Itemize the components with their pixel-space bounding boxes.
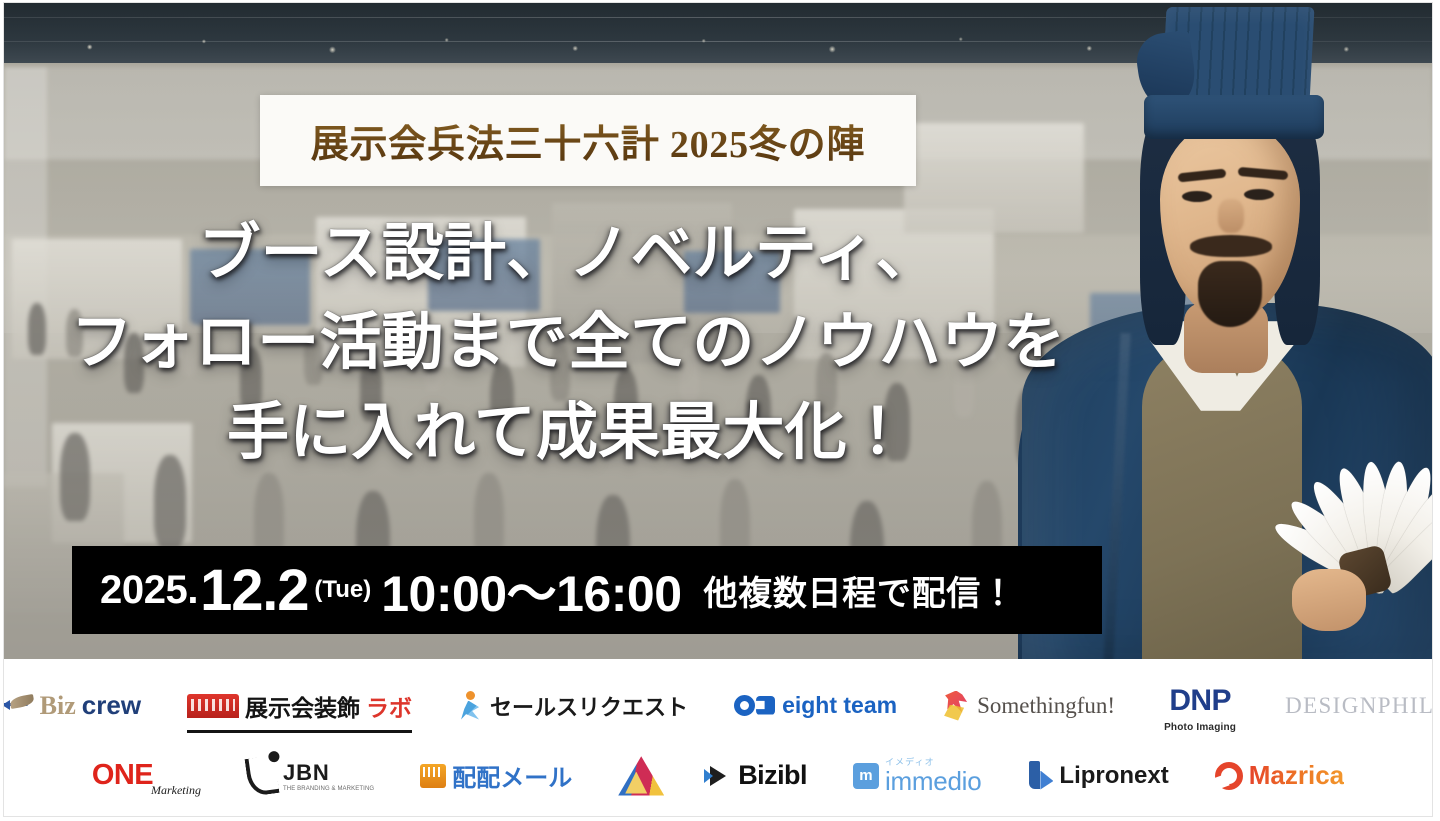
logo-bizcrew-part2: crew — [82, 690, 141, 721]
hero-section: 展示会兵法三十六計 2025冬の陣 ブース設計、ノベルティ、 フォロー活動まで全… — [4, 3, 1432, 659]
logo-triangle-mark[interactable] — [618, 754, 664, 798]
logo-labo-underline — [187, 730, 412, 733]
red-booth-icon — [187, 694, 239, 718]
date-weekday: (Tue) — [314, 576, 371, 604]
lipro-mark-icon — [1027, 761, 1053, 791]
logo-eight-team-label: eight team — [782, 692, 897, 719]
logo-dnp[interactable]: DNP Photo Imaging — [1161, 684, 1239, 728]
logo-eight-team[interactable]: eight team — [734, 684, 897, 728]
orange-mail-icon — [420, 764, 446, 788]
logo-one-marketing[interactable]: ONE Marketing — [92, 754, 201, 798]
logo-somethingfun-label: Somethingfun! — [977, 693, 1115, 719]
title-plaque: 展示会兵法三十六計 2025冬の陣 — [260, 95, 916, 186]
date-year: 2025. — [100, 568, 198, 613]
date-day: 12.2 — [200, 557, 308, 624]
feather-fan — [1288, 385, 1432, 595]
play-triangle-icon — [710, 765, 732, 787]
logo-jbn-sub: THE BRANDING & MARKETING — [283, 786, 374, 792]
arrow-quill-icon — [3, 699, 32, 713]
immedio-square-icon: m — [853, 763, 879, 789]
logo-designphil-label: DESIGNPHIL — [1285, 693, 1433, 719]
logo-haihai-mail[interactable]: 配配メール — [420, 754, 572, 798]
logo-sales-request[interactable]: セールスリクエスト — [458, 684, 688, 728]
running-person-icon — [458, 691, 484, 721]
date-time: 10:00〜16:00 — [381, 554, 681, 626]
date-note: 他複数日程で配信！ — [704, 566, 1016, 615]
logo-lipronext-label: Lipronext — [1059, 762, 1168, 790]
logo-jbn[interactable]: JBN THE BRANDING & MARKETING — [247, 754, 374, 798]
eye-right — [1244, 189, 1274, 200]
eye-left — [1182, 191, 1212, 202]
logo-bizcrew[interactable]: Bizcrew — [3, 684, 141, 728]
logo-bizcrew-part1: Biz — [40, 691, 76, 721]
logo-mazrica[interactable]: Mazrica — [1215, 754, 1344, 798]
logo-dnp-label: DNP — [1169, 684, 1231, 718]
beard — [1198, 261, 1262, 327]
logo-one-part2: Marketing — [151, 783, 201, 798]
logo-labo-part2: ラボ — [366, 689, 412, 723]
logo-lipronext[interactable]: Lipronext — [1027, 754, 1168, 798]
headline-line-1: ブース設計、ノベルティ、 — [4, 219, 1132, 288]
nose — [1218, 199, 1244, 233]
banner-card: 展示会兵法三十六計 2025冬の陣 ブース設計、ノベルティ、 フォロー活動まで全… — [3, 2, 1433, 817]
logo-tenjikai-soshoku-labo[interactable]: 展示会装飾ラボ — [187, 684, 412, 728]
open-circle-icon — [1215, 762, 1243, 790]
sponsor-row-2: ONE Marketing JBN THE BRANDING & MARKETI… — [26, 748, 1410, 804]
color-triangle-icon — [618, 756, 664, 796]
webinar-banner: 展示会兵法三十六計 2025冬の陣 ブース設計、ノベルティ、 フォロー活動まで全… — [0, 0, 1440, 821]
logo-labo-part1: 展示会装飾 — [245, 689, 360, 723]
headline-line-3: 手に入れて成果最大化！ — [4, 398, 1132, 467]
flame-icon — [943, 691, 971, 721]
headline-block: ブース設計、ノベルティ、 フォロー活動まで全てのノウハウを 手に入れて成果最大化… — [4, 219, 1132, 467]
logo-bizibl-label: Bizibl — [738, 760, 807, 791]
moustache — [1190, 235, 1272, 257]
logo-bizibl[interactable]: Bizibl — [710, 754, 807, 798]
date-bar: 2025. 12.2 (Tue) 10:00〜16:00 他複数日程で配信！ — [72, 546, 1102, 634]
logo-one-part1: ONE — [92, 759, 153, 792]
logo-sales-request-label: セールスリクエスト — [490, 690, 688, 722]
hand — [1292, 569, 1366, 631]
title-plaque-text: 展示会兵法三十六計 2025冬の陣 — [311, 113, 865, 168]
logo-dnp-sub: Photo Imaging — [1164, 722, 1236, 733]
logo-mazrica-label: Mazrica — [1249, 760, 1344, 791]
hat-band — [1144, 95, 1324, 139]
sponsor-row-1: Bizcrew 展示会装飾ラボ セールスリクエスト eight team Som… — [26, 678, 1410, 734]
logo-somethingfun[interactable]: Somethingfun! — [943, 684, 1115, 728]
logo-immedio[interactable]: m イメディオ immedio — [853, 754, 981, 798]
sponsor-logo-band: Bizcrew 展示会装飾ラボ セールスリクエスト eight team Som… — [4, 659, 1432, 816]
headline-line-2: フォロー活動まで全てのノウハウを — [4, 308, 1132, 377]
logo-haihai-mail-label: 配配メール — [452, 758, 572, 793]
logo-immedio-label: immedio — [885, 768, 981, 794]
logo-jbn-label: JBN — [283, 760, 330, 786]
logo-designphil[interactable]: DESIGNPHIL — [1285, 684, 1433, 728]
hook-icon — [244, 755, 279, 797]
eight-mark-icon — [734, 695, 776, 717]
